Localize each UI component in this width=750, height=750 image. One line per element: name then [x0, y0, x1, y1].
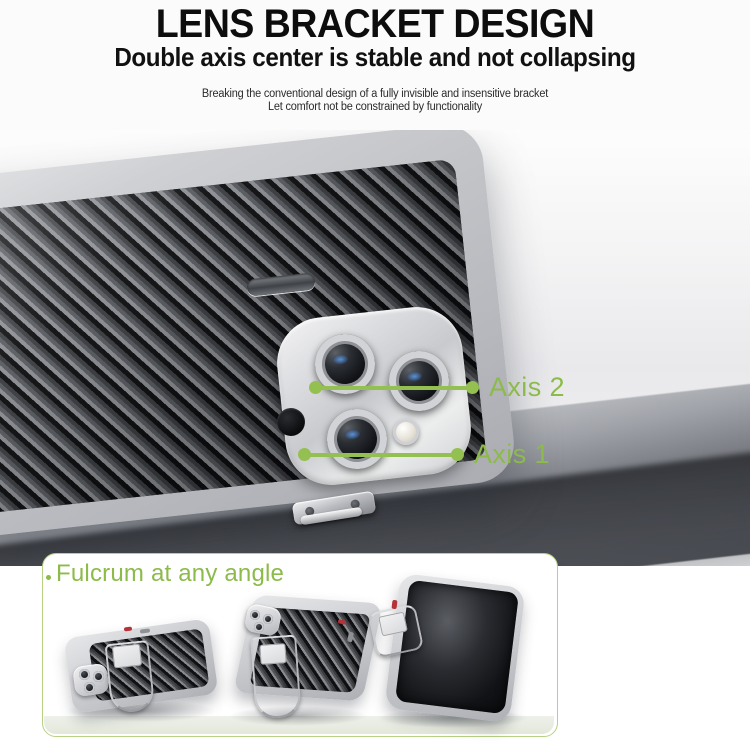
mockup-lens	[254, 622, 264, 632]
callout-label-axis-2: Axis 2	[489, 372, 565, 403]
page-subtitle: Double axis center is stable and not col…	[26, 42, 724, 72]
mockup-lens	[79, 669, 90, 680]
leader-line-axis-1	[305, 453, 457, 457]
anchor-dot-axis-1	[298, 448, 311, 461]
end-dot-axis-1	[451, 448, 464, 461]
mockup-lens	[250, 610, 260, 620]
fulcrum-panel-title: Fulcrum at any angle	[56, 560, 284, 588]
end-dot-axis-2	[466, 381, 479, 394]
leader-line-axis-2	[316, 386, 472, 390]
header-block: LENS BRACKET DESIGN Double axis center i…	[0, 0, 750, 130]
mockup-logo-badge	[259, 643, 286, 665]
mockup-shadow	[228, 706, 368, 726]
anchor-dot-axis-2	[309, 381, 322, 394]
mockup-lens	[84, 682, 95, 693]
callout-label-axis-1: Axis 1	[474, 439, 550, 470]
mockup-lens	[263, 614, 273, 624]
mockup-lens	[93, 671, 104, 682]
header-note-line-1: Breaking the conventional design of a fu…	[19, 88, 732, 100]
page-title: LENS BRACKET DESIGN	[23, 2, 728, 46]
header-note-line-2: Let comfort not be constrained by functi…	[19, 101, 732, 113]
product-feature-page: LENS BRACKET DESIGN Double axis center i…	[0, 0, 750, 750]
hero-product-photo	[0, 126, 750, 566]
bullet-dot-icon	[46, 575, 51, 580]
mockup-logo-badge	[112, 644, 142, 669]
